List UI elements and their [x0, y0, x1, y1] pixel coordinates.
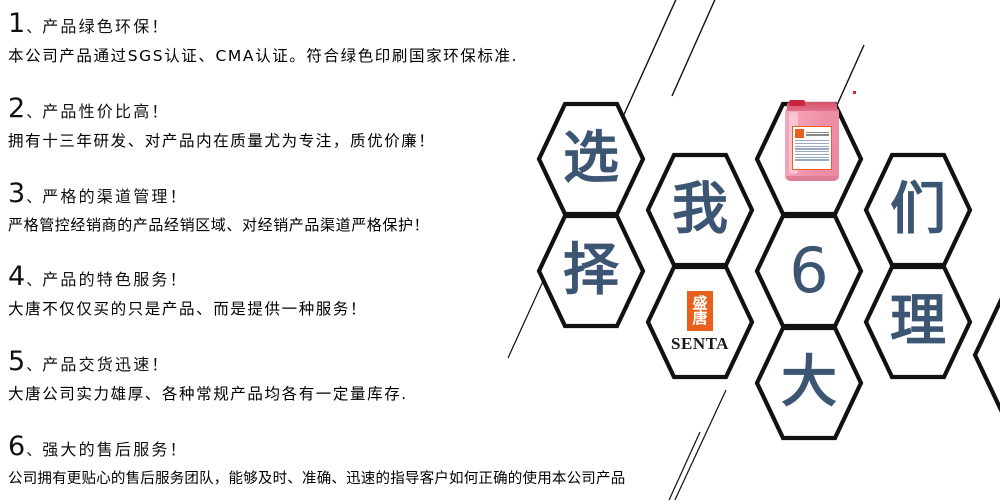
reason-heading: 4 、 产品的特色服务！ [8, 263, 367, 290]
product-label [792, 126, 832, 170]
brand-logo: 盛 唐 SENTA [648, 267, 752, 377]
can-base [787, 176, 837, 181]
reason-separator: 、 [26, 358, 41, 373]
reason-number: 5 [8, 348, 25, 375]
reason-separator: 、 [26, 190, 41, 205]
hexagon-label-wo: 我 [648, 155, 752, 265]
reason-number: 1 [8, 10, 25, 37]
hexagon-label-ze: 择 [539, 216, 643, 326]
label-text-lines [793, 138, 831, 163]
reason-separator: 、 [26, 443, 41, 458]
reason-title: 产品交货迅速！ [42, 357, 169, 373]
reason-body: 严格管控经销商的产品经销区域、对经销产品渠道严格保护！ [8, 214, 429, 235]
reason-number: 3 [8, 180, 25, 207]
reason-title: 严格的渠道管理！ [42, 189, 188, 205]
can-cap-icon [789, 100, 805, 106]
hexagon-label-li: 理 [866, 267, 970, 377]
label-brand-swatch-icon [795, 129, 804, 138]
reason-item-1: 1 、 产品绿色环保！ 本公司产品通过SGS认证、CMA认证。符合绿色印刷国家环… [8, 10, 518, 66]
accent-dot [853, 91, 856, 94]
hexagon-label-six: 6 [757, 216, 861, 326]
product-image [779, 100, 845, 192]
promo-banner: 1 、 产品绿色环保！ 本公司产品通过SGS认证、CMA认证。符合绿色印刷国家环… [0, 0, 1000, 500]
guide-line [660, 432, 700, 500]
hexagon-label-you: 由 [975, 300, 1000, 410]
reason-title: 产品绿色环保！ [42, 19, 169, 35]
reason-separator: 、 [26, 20, 41, 35]
hexagon-label-da: 大 [757, 328, 861, 438]
reason-separator: 、 [26, 105, 41, 120]
hexagon-label-men: 们 [866, 155, 970, 265]
reason-body: 大唐不仅仅买的只是产品、而是提供一种服务！ [8, 297, 367, 319]
reason-number: 6 [8, 433, 25, 460]
reason-title: 强大的售后服务！ [42, 442, 188, 458]
reason-body: 公司拥有更贴心的售后服务团队，能够及时、准确、迅速的指导客户如何正确的使用本公司… [8, 467, 625, 488]
reason-body: 大唐公司实力雄厚、各种常规产品均各有一定量库存. [8, 382, 408, 404]
reason-heading: 6 、 强大的售后服务！ [8, 433, 625, 460]
logo-char-bottom: 唐 [692, 311, 707, 326]
reason-separator: 、 [26, 273, 41, 288]
reason-heading: 5 、 产品交货迅速！ [8, 348, 408, 375]
reason-item-3: 3 、 严格的渠道管理！ 严格管控经销商的产品经销区域、对经销产品渠道严格保护！ [8, 180, 429, 235]
logo-seal-icon: 盛 唐 [687, 291, 713, 331]
guide-line [661, 390, 726, 500]
reason-number: 4 [8, 263, 25, 290]
reason-item-6: 6 、 强大的售后服务！ 公司拥有更贴心的售后服务团队，能够及时、准确、迅速的指… [8, 433, 625, 488]
reason-body: 本公司产品通过SGS认证、CMA认证。符合绿色印刷国家环保标准. [8, 44, 518, 66]
reason-title: 产品性价比高！ [42, 104, 169, 120]
reason-item-5: 5 、 产品交货迅速！ 大唐公司实力雄厚、各种常规产品均各有一定量库存. [8, 348, 408, 404]
reason-number: 2 [8, 95, 25, 122]
hexagon-label-xuan: 选 [539, 104, 643, 214]
reason-title: 产品的特色服务！ [42, 272, 188, 288]
label-title-lines [806, 132, 829, 136]
reason-item-2: 2 、 产品性价比高！ 拥有十三年研发、对产品内在质量尤为专注，质优价廉！ [8, 95, 436, 151]
reason-body: 拥有十三年研发、对产品内在质量尤为专注，质优价廉！ [8, 129, 436, 151]
label-header [793, 127, 831, 138]
reason-item-4: 4 、 产品的特色服务！ 大唐不仅仅买的只是产品、而是提供一种服务！ [8, 263, 367, 319]
reason-heading: 1 、 产品绿色环保！ [8, 10, 518, 37]
reason-heading: 3 、 严格的渠道管理！ [8, 180, 429, 207]
guide-line [672, 0, 717, 96]
reason-heading: 2 、 产品性价比高！ [8, 95, 436, 122]
logo-wordmark: SENTA [671, 334, 729, 354]
